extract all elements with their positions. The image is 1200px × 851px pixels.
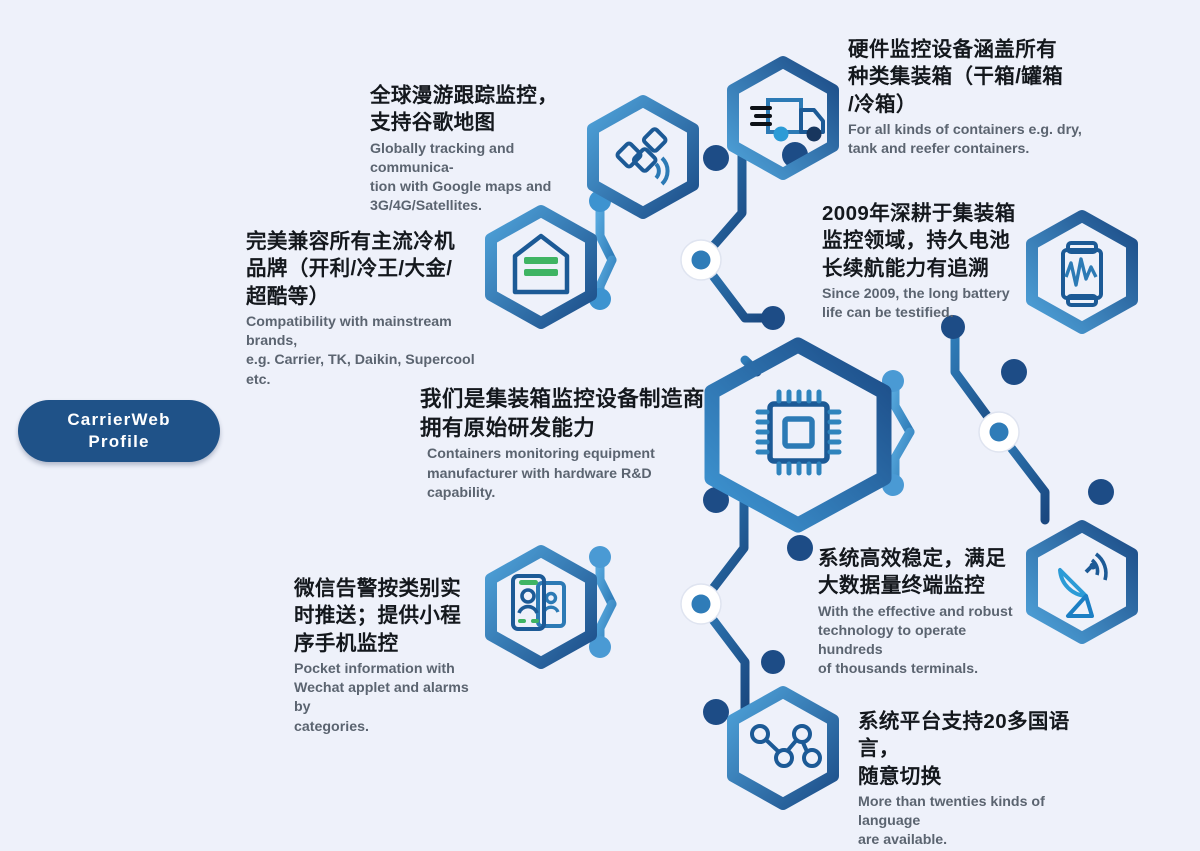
- hexagon-center[interactable]: [712, 345, 884, 525]
- feature-body-en: For all kinds of containers e.g. dry, ta…: [848, 121, 1086, 160]
- feature-body-en: Globally tracking and communica- tion wi…: [370, 140, 586, 217]
- feature-text-since-2009: 2009年深耕于集装箱 监控领域，持久电池 长续航能力有追溯 Since 200…: [822, 200, 1032, 323]
- junction-hub-node: [681, 240, 721, 280]
- feature-heading-zh: 全球漫游跟踪监控， 支持谷歌地图: [370, 82, 586, 137]
- feature-text-robust-platform: 系统高效稳定，满足 大数据量终端监控 With the effective an…: [818, 545, 1030, 680]
- feature-text-hardware-containers: 硬件监控设备涵盖所有 种类集装箱（干箱/罐箱 /冷箱） For all kind…: [848, 36, 1086, 159]
- badge-line-2: Profile: [67, 431, 170, 453]
- center-body-en: Containers monitoring equipment manufact…: [427, 445, 710, 503]
- hexagon-satellite[interactable]: [593, 101, 693, 213]
- feature-heading-zh: 2009年深耕于集装箱 监控领域，持久电池 长续航能力有追溯: [822, 200, 1032, 282]
- cpu-chip-icon: [758, 392, 839, 473]
- feature-text-wechat-alarms: 微信告警按类别实 时推送；提供小程 序手机监控 Pocket informati…: [294, 575, 484, 737]
- center-heading-zh: 我们是集装箱监控设备制造商 拥有原始研发能力: [420, 385, 710, 442]
- junction-hub-node: [681, 584, 721, 624]
- badge-line-1: CarrierWeb: [67, 409, 170, 431]
- feature-text-compatibility: 完美兼容所有主流冷机 品牌（开利/冷王/大金/ 超酷等） Compatibili…: [246, 228, 488, 390]
- truck-icon: [752, 100, 823, 142]
- satellite-dish-icon: [1060, 554, 1106, 616]
- home-reefer-icon: [515, 236, 567, 292]
- feature-text-multi-language: 系统平台支持20多国语言， 随意切换 More than twenties ki…: [858, 708, 1106, 851]
- center-text-manufacturer: 我们是集装箱监控设备制造商 拥有原始研发能力 Containers monito…: [420, 385, 710, 503]
- feature-heading-zh: 微信告警按类别实 时推送；提供小程 序手机监控: [294, 575, 484, 657]
- feature-heading-zh: 系统平台支持20多国语言， 随意切换: [858, 708, 1106, 790]
- feature-heading-zh: 完美兼容所有主流冷机 品牌（开利/冷王/大金/ 超酷等）: [246, 228, 488, 310]
- feature-heading-zh: 硬件监控设备涵盖所有 种类集装箱（干箱/罐箱 /冷箱）: [848, 36, 1086, 118]
- hexagon-platform[interactable]: [1032, 526, 1132, 638]
- hexagon-wechat[interactable]: [491, 551, 591, 663]
- carrierweb-profile-badge[interactable]: CarrierWeb Profile: [18, 400, 220, 462]
- feature-body-en: With the effective and robust technology…: [818, 603, 1030, 680]
- mobile-users-icon: [513, 576, 564, 629]
- infographic-canvas: CarrierWeb Profile 全球漫游跟踪监控， 支持谷歌地图 Glob…: [0, 0, 1200, 849]
- hexagon-battery[interactable]: [1032, 216, 1132, 328]
- network-nodes-icon: [752, 726, 820, 766]
- feature-body-en: Compatibility with mainstream brands, e.…: [246, 313, 488, 390]
- battery-waveform-icon: [1063, 243, 1101, 305]
- satellite-icon: [616, 128, 667, 184]
- junction-hub-node: [979, 412, 1019, 452]
- feature-body-en: More than twenties kinds of language are…: [858, 793, 1106, 851]
- hexagon-language[interactable]: [733, 692, 833, 804]
- feature-body-en: Pocket information with Wechat applet an…: [294, 660, 484, 737]
- feature-heading-zh: 系统高效稳定，满足 大数据量终端监控: [818, 545, 1030, 600]
- feature-body-en: Since 2009, the long battery life can be…: [822, 285, 1032, 324]
- hexagon-compat[interactable]: [491, 211, 591, 323]
- feature-text-global-tracking: 全球漫游跟踪监控， 支持谷歌地图 Globally tracking and c…: [370, 82, 586, 217]
